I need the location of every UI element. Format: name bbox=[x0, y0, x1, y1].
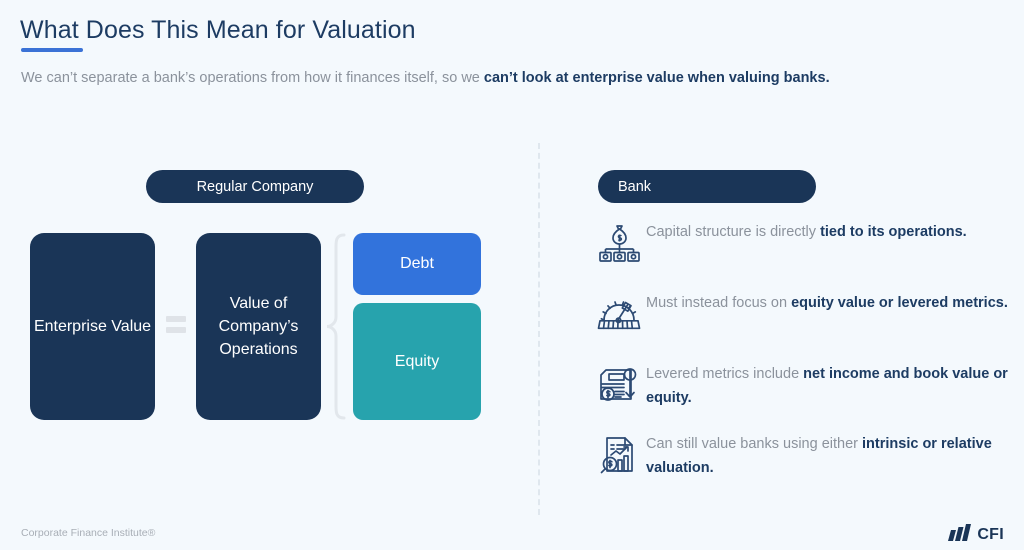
list-item-text: Must instead focus on equity value or le… bbox=[646, 289, 1008, 315]
bullet-regular-text: Can still value banks using either bbox=[646, 436, 862, 452]
cfi-logo-text: CFI bbox=[977, 526, 1004, 544]
equals-bar-bottom bbox=[166, 327, 186, 333]
bank-pill: Bank bbox=[598, 170, 816, 203]
bullet-bold-text: tied to its operations. bbox=[820, 224, 967, 240]
bank-pill-label: Bank bbox=[618, 179, 651, 195]
bullet-bold-text: equity value or levered metrics. bbox=[791, 295, 1008, 311]
debt-label: Debt bbox=[400, 255, 434, 273]
center-divider bbox=[538, 143, 540, 515]
list-item-text: Capital structure is directly tied to it… bbox=[646, 218, 967, 244]
footer-credit: Corporate Finance Institute® bbox=[21, 527, 155, 539]
page-subtitle: We can’t separate a bank’s operations fr… bbox=[21, 70, 830, 86]
gauge-meter-icon bbox=[592, 289, 646, 339]
operations-value-box: Value of Company’s Operations bbox=[196, 233, 321, 420]
cfi-logo: CFI bbox=[947, 524, 1004, 546]
page-title: What Does This Mean for Valuation bbox=[20, 16, 416, 45]
equals-sign-icon bbox=[166, 316, 186, 336]
list-item-text: Levered metrics include net income and b… bbox=[646, 360, 1012, 411]
equals-bar-top bbox=[166, 316, 186, 322]
regular-company-pill: Regular Company bbox=[146, 170, 364, 203]
curly-brace-icon bbox=[325, 233, 347, 420]
list-item: Can still value banks using either intri… bbox=[592, 430, 1012, 481]
regular-company-pill-label: Regular Company bbox=[197, 179, 314, 195]
title-underline-accent bbox=[21, 48, 83, 52]
enterprise-value-label: Enterprise Value bbox=[34, 315, 151, 338]
enterprise-value-box: Enterprise Value bbox=[30, 233, 155, 420]
capital-structure-money-bag-icon bbox=[592, 218, 646, 268]
cfi-bars-logo-icon bbox=[947, 524, 973, 546]
subtitle-bold-text: can’t look at enterprise value when valu… bbox=[484, 70, 830, 86]
financial-statement-icon bbox=[592, 360, 646, 410]
list-item: Must instead focus on equity value or le… bbox=[592, 289, 1012, 339]
bullet-regular-text: Levered metrics include bbox=[646, 366, 803, 382]
equity-box: Equity bbox=[353, 303, 481, 420]
debt-box: Debt bbox=[353, 233, 481, 295]
operations-value-label: Value of Company’s Operations bbox=[196, 292, 321, 362]
list-item-text: Can still value banks using either intri… bbox=[646, 430, 1012, 481]
list-item: Capital structure is directly tied to it… bbox=[592, 218, 1012, 268]
subtitle-regular-text: We can’t separate a bank’s operations fr… bbox=[21, 70, 484, 86]
equity-label: Equity bbox=[395, 353, 439, 371]
bullet-regular-text: Must instead focus on bbox=[646, 295, 791, 311]
document-chart-magnifier-icon bbox=[592, 430, 646, 480]
bullet-regular-text: Capital structure is directly bbox=[646, 224, 820, 240]
list-item: Levered metrics include net income and b… bbox=[592, 360, 1012, 411]
